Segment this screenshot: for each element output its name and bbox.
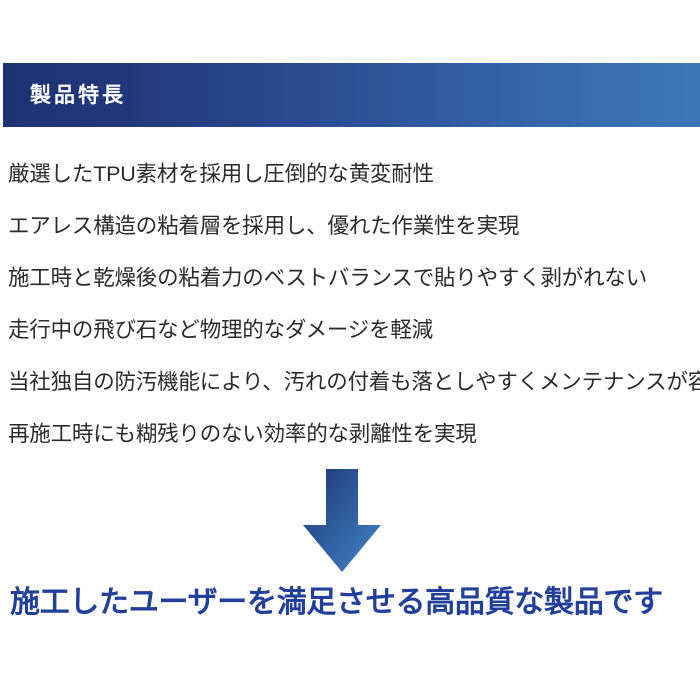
feature-list: 厳選したTPU素材を採用し圧倒的な黄変耐性 エアレス構造の粘着層を採用し、優れた… xyxy=(8,148,698,460)
list-item: 走行中の飛び石など物理的なダメージを軽減 xyxy=(8,304,698,356)
list-item: 当社独自の防汚機能により、汚れの付着も落としやすくメンテナンスが容易 xyxy=(8,356,698,408)
list-item: 再施工時にも糊残りのない効率的な剥離性を実現 xyxy=(8,408,698,460)
page-title: 製品特長 xyxy=(30,85,126,106)
arrow-down-icon xyxy=(303,469,381,572)
conclusion-headline: 施工したユーザーを満足させる高品質な製品です xyxy=(10,583,700,623)
product-features-panel: 製品特長 厳選したTPU素材を採用し圧倒的な黄変耐性 エアレス構造の粘着層を採用… xyxy=(0,0,700,700)
list-item: エアレス構造の粘着層を採用し、優れた作業性を実現 xyxy=(8,200,698,252)
list-item: 厳選したTPU素材を採用し圧倒的な黄変耐性 xyxy=(8,148,698,200)
list-item: 施工時と乾燥後の粘着力のベストバランスで貼りやすく剥がれない xyxy=(8,252,698,304)
section-header-bar: 製品特長 xyxy=(3,63,700,127)
